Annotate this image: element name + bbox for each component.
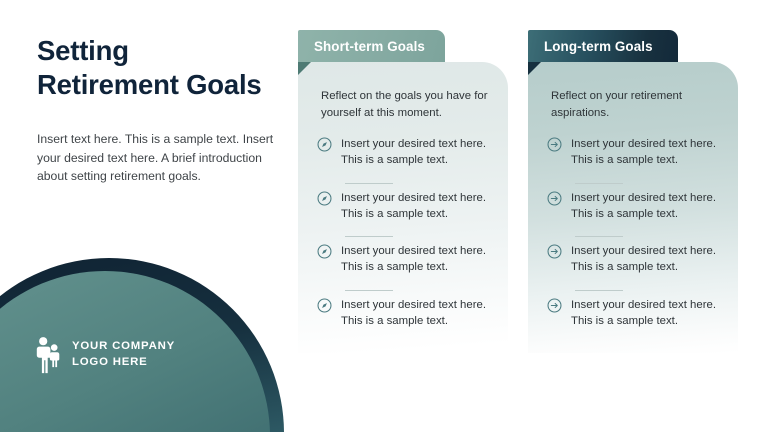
list-item-text: Insert your desired text here. This is a… xyxy=(341,136,491,169)
card-intro-short-term: Reflect on the goals you have for yourse… xyxy=(321,88,493,121)
ribbon-fold-short xyxy=(298,62,311,75)
compass-icon xyxy=(317,137,332,152)
compass-icon xyxy=(317,244,332,259)
page-title: Setting Retirement Goals xyxy=(37,34,293,101)
card-heading-label: Long-term Goals xyxy=(544,39,653,54)
list-item-text: Insert your desired text here. This is a… xyxy=(341,190,491,223)
list-item[interactable]: Insert your desired text here. This is a… xyxy=(547,243,729,297)
card-heading-label: Short-term Goals xyxy=(314,39,425,54)
list-item[interactable]: Insert your desired text here. This is a… xyxy=(317,136,499,190)
list-item[interactable]: Insert your desired text here. This is a… xyxy=(317,190,499,244)
list-item-text: Insert your desired text here. This is a… xyxy=(571,190,721,223)
ribbon-fold-long xyxy=(528,62,541,75)
goal-list-short-term: Insert your desired text here. This is a… xyxy=(317,136,499,350)
parent-and-child-icon xyxy=(35,336,61,374)
card-header-short-term: Short-term Goals xyxy=(298,30,445,62)
logo-text: YOUR COMPANY LOGO HERE xyxy=(72,339,175,370)
list-item[interactable]: Insert your desired text here. This is a… xyxy=(547,136,729,190)
list-item-text: Insert your desired text here. This is a… xyxy=(341,243,491,276)
list-item[interactable]: Insert your desired text here. This is a… xyxy=(547,297,729,351)
list-item[interactable]: Insert your desired text here. This is a… xyxy=(317,243,499,297)
list-item[interactable]: Insert your desired text here. This is a… xyxy=(317,297,499,351)
logo-circle: YOUR COMPANY LOGO HERE xyxy=(0,258,284,432)
list-item[interactable]: Insert your desired text here. This is a… xyxy=(547,190,729,244)
arrow-right-circle-icon xyxy=(547,244,562,259)
arrow-right-circle-icon xyxy=(547,298,562,313)
logo-lockup: YOUR COMPANY LOGO HERE xyxy=(35,336,175,374)
compass-icon xyxy=(317,191,332,206)
arrow-right-circle-icon xyxy=(547,137,562,152)
list-item-text: Insert your desired text here. This is a… xyxy=(341,297,491,330)
card-long-term[interactable]: Long-term Goals Reflect on your retireme… xyxy=(528,62,738,353)
slide-canvas: Setting Retirement Goals Insert text her… xyxy=(0,0,768,432)
compass-icon xyxy=(317,298,332,313)
left-column: Setting Retirement Goals Insert text her… xyxy=(37,34,293,101)
list-item-text: Insert your desired text here. This is a… xyxy=(571,136,721,169)
card-intro-long-term: Reflect on your retirement aspirations. xyxy=(551,88,723,121)
goal-list-long-term: Insert your desired text here. This is a… xyxy=(547,136,729,350)
list-item-text: Insert your desired text here. This is a… xyxy=(571,243,721,276)
card-header-long-term: Long-term Goals xyxy=(528,30,678,62)
intro-paragraph: Insert text here. This is a sample text.… xyxy=(37,130,285,186)
card-short-term[interactable]: Short-term Goals Reflect on the goals yo… xyxy=(298,62,508,353)
arrow-right-circle-icon xyxy=(547,191,562,206)
list-item-text: Insert your desired text here. This is a… xyxy=(571,297,721,330)
